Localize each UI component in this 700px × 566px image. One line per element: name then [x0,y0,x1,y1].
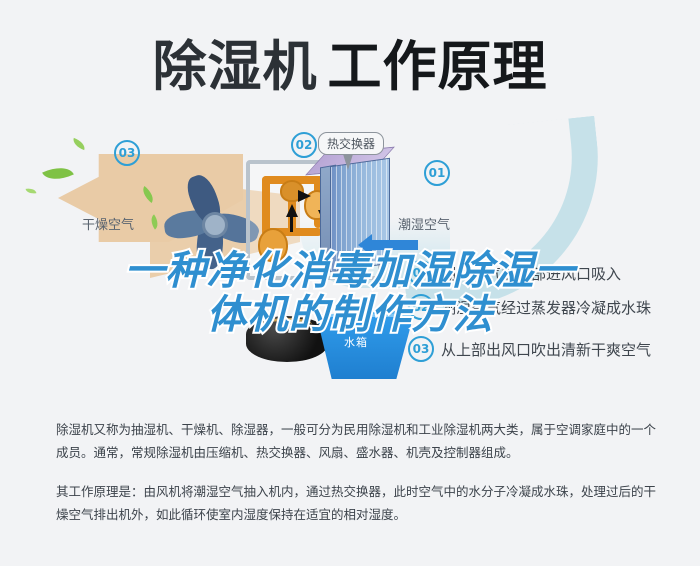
leaf-icon [42,161,74,186]
badge-02-heat-exchanger: 02 [291,132,317,158]
right-step-02-text: 潮湿空气经过蒸发器冷凝成水珠 [441,297,651,318]
page-title-part2: 工作原理 [328,35,548,98]
badge-01-humid-air: 01 [424,160,450,186]
compressor-band [262,318,312,331]
coil-tank [258,228,288,262]
fan-hub [202,212,228,238]
body-paragraph-1: 除湿机又称为抽湿机、干燥机、除湿器，一般可分为民用除湿机和工业除湿机两大类，属于… [56,418,656,464]
air-inlet-arrow-icon [372,240,418,250]
right-step-01-text: 潮湿空气由下部进风口吸入 [441,263,621,284]
callout-heat-exchanger: 热交换器 [318,132,384,155]
right-step-02: 02 潮湿空气经过蒸发器冷凝成水珠 [408,294,651,320]
infographic-page: 除湿机工作原理 [0,0,700,566]
leaf-icon [71,138,87,150]
badge-03-dry-air: 03 [114,140,140,166]
body-copy: 除湿机又称为抽湿机、干燥机、除湿器，一般可分为民用除湿机和工业除湿机两大类，属于… [56,418,656,542]
label-humid-air: 潮湿空气 [398,214,450,233]
page-title: 除湿机工作原理 [0,22,700,101]
callout-tail-icon [343,154,353,170]
right-step-01: 01 潮湿空气由下部进风口吸入 [408,260,621,286]
flow-arrow-shaft [290,216,293,232]
badge-step-01: 01 [408,260,434,286]
dehumidifier-diagram: 水箱 03 干燥空气 02 热交换器 01 潮湿空气 01 潮湿空气由下部进风口… [0,118,700,398]
water-tank-label: 水箱 [344,334,368,350]
coil-pipe [262,176,270,234]
badge-step-02: 02 [408,294,434,320]
flow-arrow-right-icon [298,190,311,202]
body-paragraph-2: 其工作原理是：由风机将潮湿空气抽入机内，通过热交换器，此时空气中的水分子冷凝成水… [56,480,656,526]
page-title-part1: 除湿机 [153,35,318,98]
right-step-03: 03 从上部出风口吹出清新干爽空气 [408,336,651,362]
label-dry-air: 干燥空气 [82,214,134,233]
leaf-icon [26,187,37,195]
right-step-03-text: 从上部出风口吹出清新干爽空气 [441,339,651,360]
badge-step-03: 03 [408,336,434,362]
